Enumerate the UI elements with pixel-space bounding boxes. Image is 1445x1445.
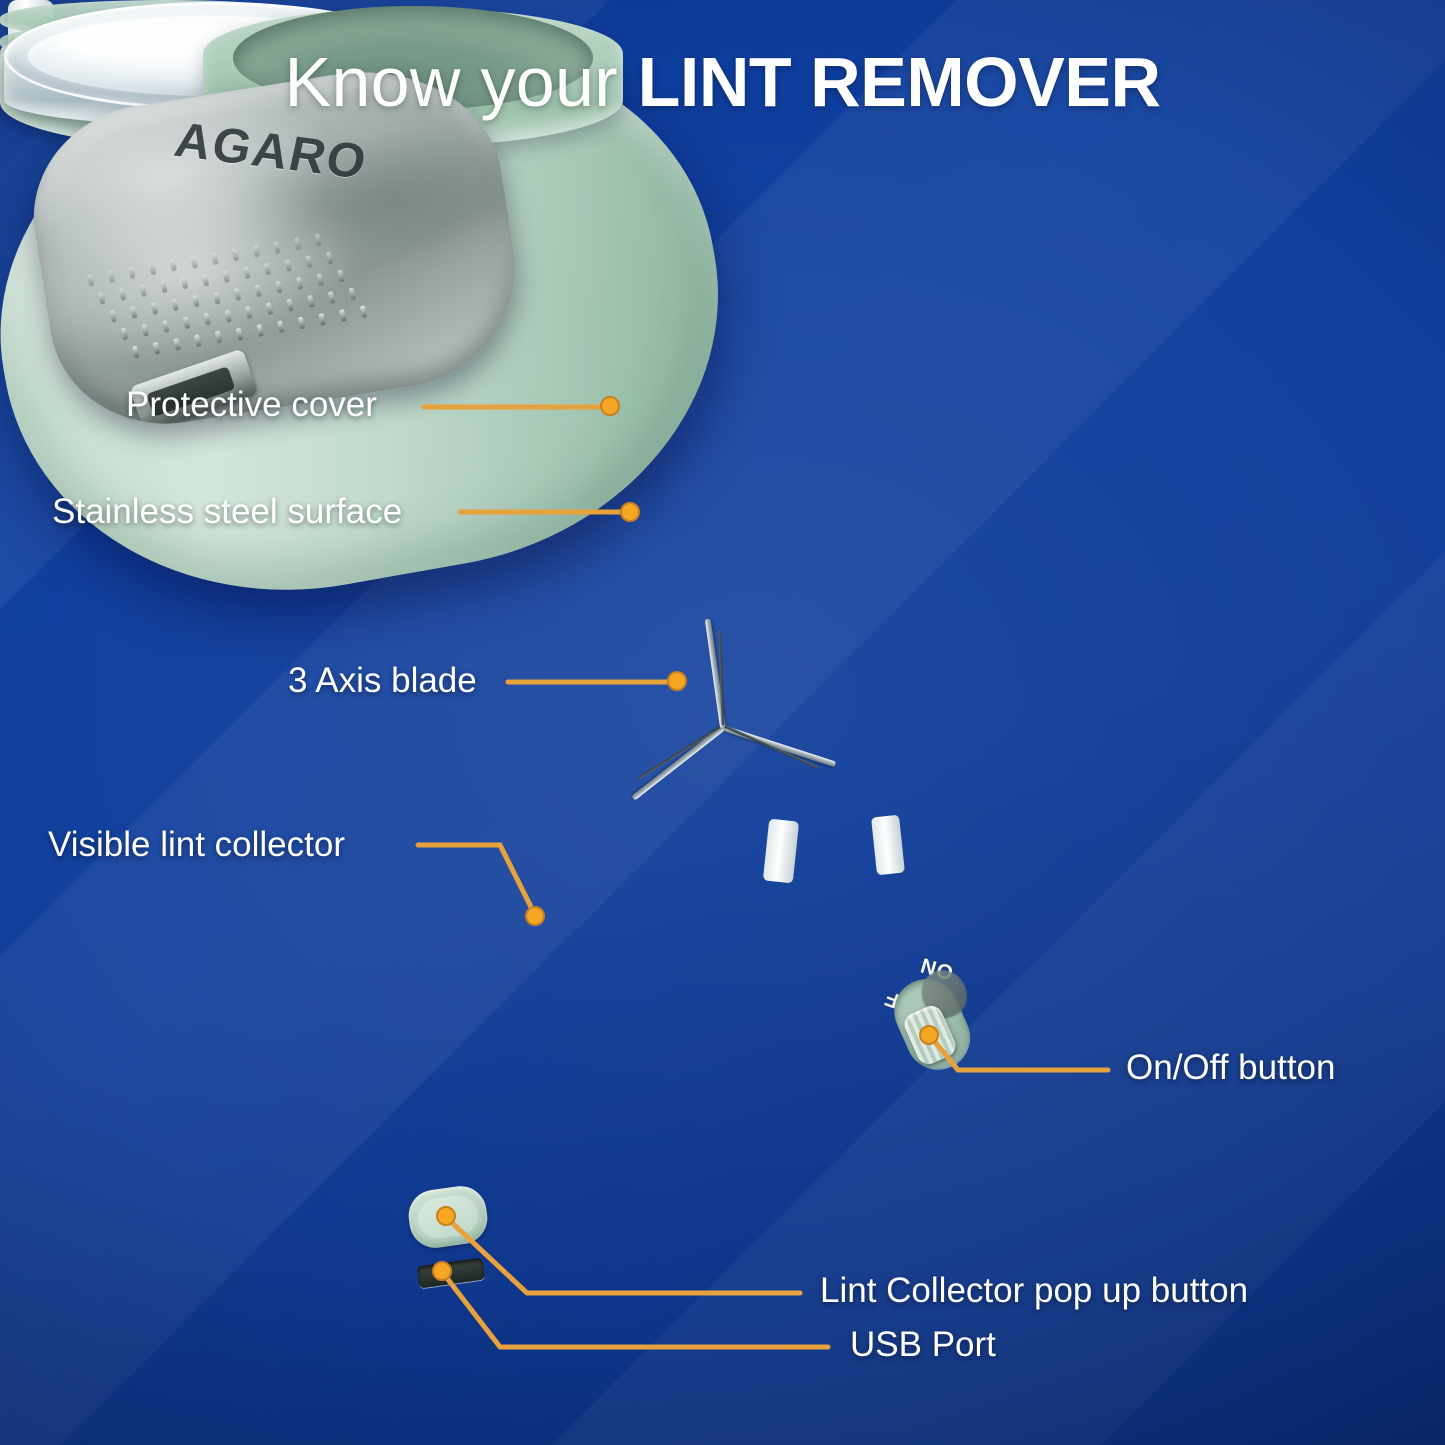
- blade-edge-2: [637, 724, 723, 779]
- blade-edge-1: [722, 724, 818, 769]
- product-exploded-view: AGARO: [0, 0, 1445, 1445]
- usb-port: [417, 1258, 485, 1289]
- callout-label-lint-collector: Visible lint collector: [48, 825, 345, 865]
- callout-label-on-off-button: On/Off button: [1126, 1048, 1336, 1088]
- callout-label-protective-cover: Protective cover: [126, 385, 377, 425]
- title-regular-part: Know your: [284, 43, 637, 121]
- motor-post-right: [871, 815, 905, 876]
- motor-shaft: [0, 600, 62, 710]
- on-off-switch[interactable]: [884, 962, 994, 1082]
- callout-label-usb-port: USB Port: [850, 1325, 996, 1365]
- callout-label-pop-up-button: Lint Collector pop up button: [820, 1271, 1248, 1311]
- protective-cover: [0, 1110, 430, 1240]
- blade-arm-2: [631, 725, 724, 800]
- page-title: Know your LINT REMOVER: [0, 46, 1445, 119]
- stainless-steel-surface: [0, 950, 420, 1110]
- callout-label-axis-blade: 3 Axis blade: [288, 661, 477, 701]
- infographic-canvas: Know your LINT REMOVER AGARO: [0, 0, 1445, 1445]
- motor-post-left: [763, 819, 799, 884]
- title-bold-part: LINT REMOVER: [638, 43, 1161, 121]
- three-axis-blade-assembly: [0, 710, 330, 830]
- callout-label-stainless-surface: Stainless steel surface: [52, 492, 402, 532]
